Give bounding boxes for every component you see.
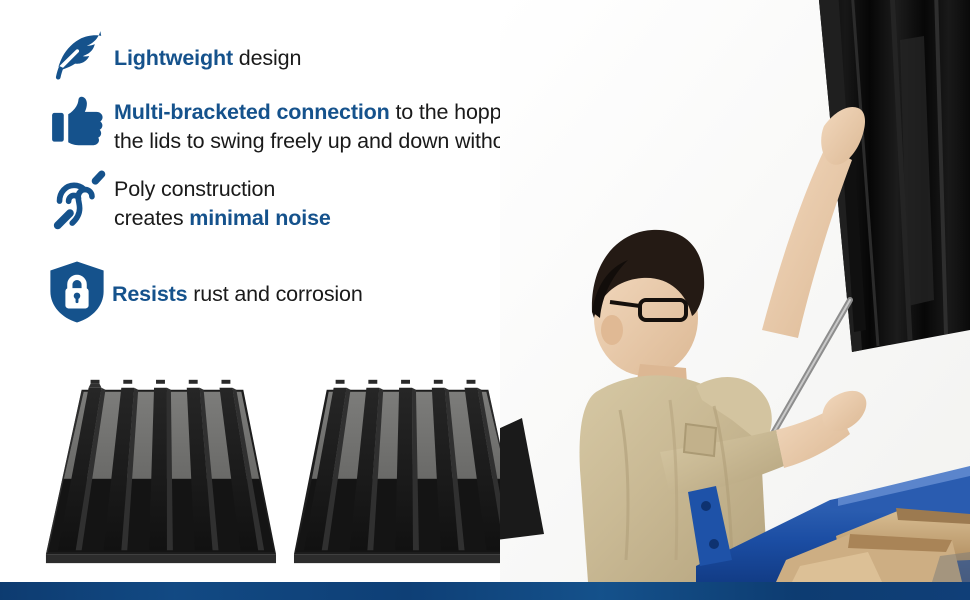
feature-emphasis: Resists	[112, 282, 187, 306]
feature-text-minimal-noise: Poly construction creates minimal noise	[114, 170, 331, 233]
feature-text-resists-rust: Resists rust and corrosion	[112, 260, 363, 309]
feature-item-resists-rust: Resists rust and corrosion	[42, 260, 363, 324]
feature-text-lightweight: Lightweight design	[114, 31, 301, 73]
thumbs-up-icon	[44, 95, 114, 147]
banner-stage: Lightweight design Multi-bracketed conne…	[0, 0, 970, 600]
feather-icon	[44, 31, 114, 89]
brand-bar	[0, 582, 970, 600]
feature-line-2: creates minimal noise	[114, 204, 331, 233]
feature-emphasis: Lightweight	[114, 46, 233, 70]
shield-lock-icon	[42, 260, 112, 324]
scene-photo-worker-hopper	[500, 0, 970, 582]
product-photo-hopper-lids	[34, 352, 534, 570]
ear-hearing-icon	[44, 170, 114, 230]
feature-plain: rust and corrosion	[187, 282, 362, 306]
brand-bar-sheen	[0, 582, 970, 600]
feature-emphasis: minimal noise	[189, 206, 330, 230]
feature-emphasis: Multi-bracketed connection	[114, 100, 390, 124]
hopper-lid-panel-right	[292, 360, 530, 570]
feature-plain: design	[233, 46, 301, 70]
feature-plain: creates	[114, 206, 189, 230]
feature-line-1: Poly construction	[114, 175, 331, 204]
feature-item-minimal-noise: Poly construction creates minimal noise	[44, 170, 331, 233]
feature-item-lightweight: Lightweight design	[44, 31, 301, 89]
hopper-lid-panel-left	[40, 360, 278, 570]
